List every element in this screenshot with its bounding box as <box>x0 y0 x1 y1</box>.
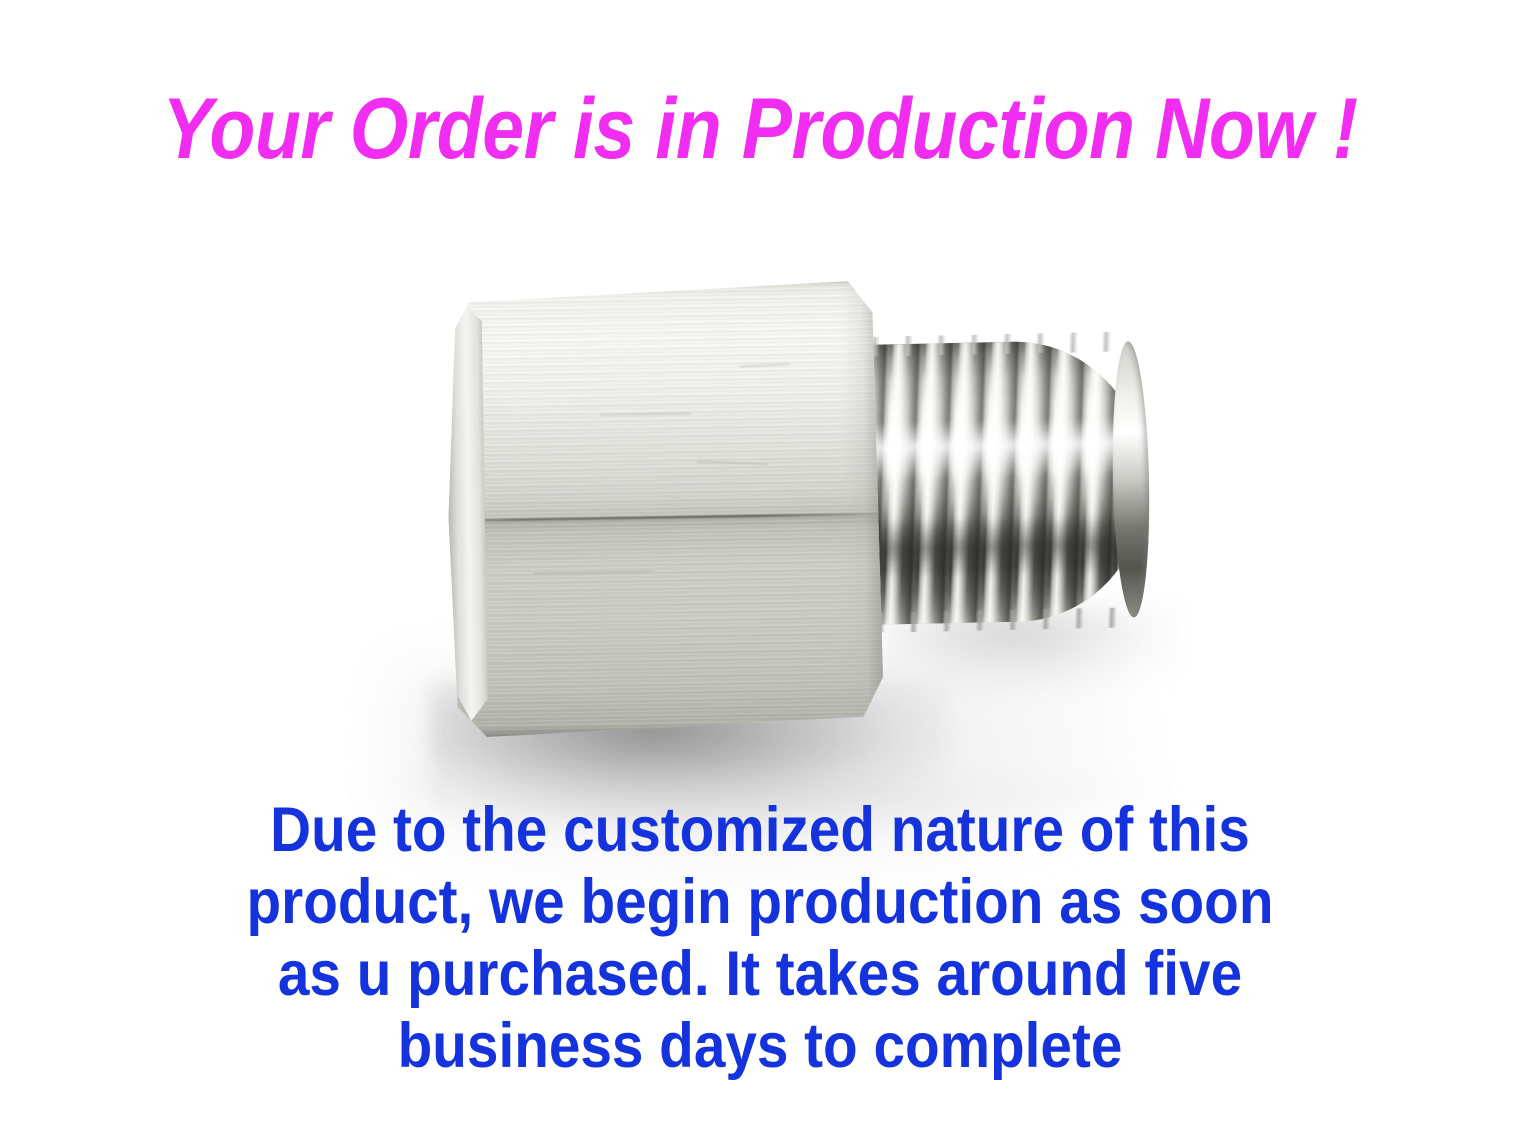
thread-shadow-band <box>863 513 1149 581</box>
hex-body <box>440 271 885 740</box>
body-text-line: as u purchased. It takes around five <box>76 938 1444 1010</box>
thread-specular-highlight <box>861 417 1147 479</box>
thread-core <box>859 339 1150 625</box>
hex-body-shape <box>440 271 885 740</box>
body-text-block: Due to the customized nature of this pro… <box>76 794 1444 1082</box>
hex-shoulder-bevel <box>839 284 885 719</box>
promo-image-canvas: Your Order is in Production Now ! <box>0 0 1520 1140</box>
body-text-line: Due to the customized nature of this <box>76 794 1444 866</box>
hex-end-face <box>444 295 488 725</box>
body-text-line: business days to complete <box>76 1010 1444 1082</box>
threaded-shank <box>859 339 1150 625</box>
brushed-metal-texture <box>440 271 885 740</box>
thread-ridges <box>859 339 1150 625</box>
product-photo <box>0 210 1520 810</box>
body-text-line: product, we begin production as soon <box>76 866 1444 938</box>
page-title: Your Order is in Production Now ! <box>95 86 1425 172</box>
